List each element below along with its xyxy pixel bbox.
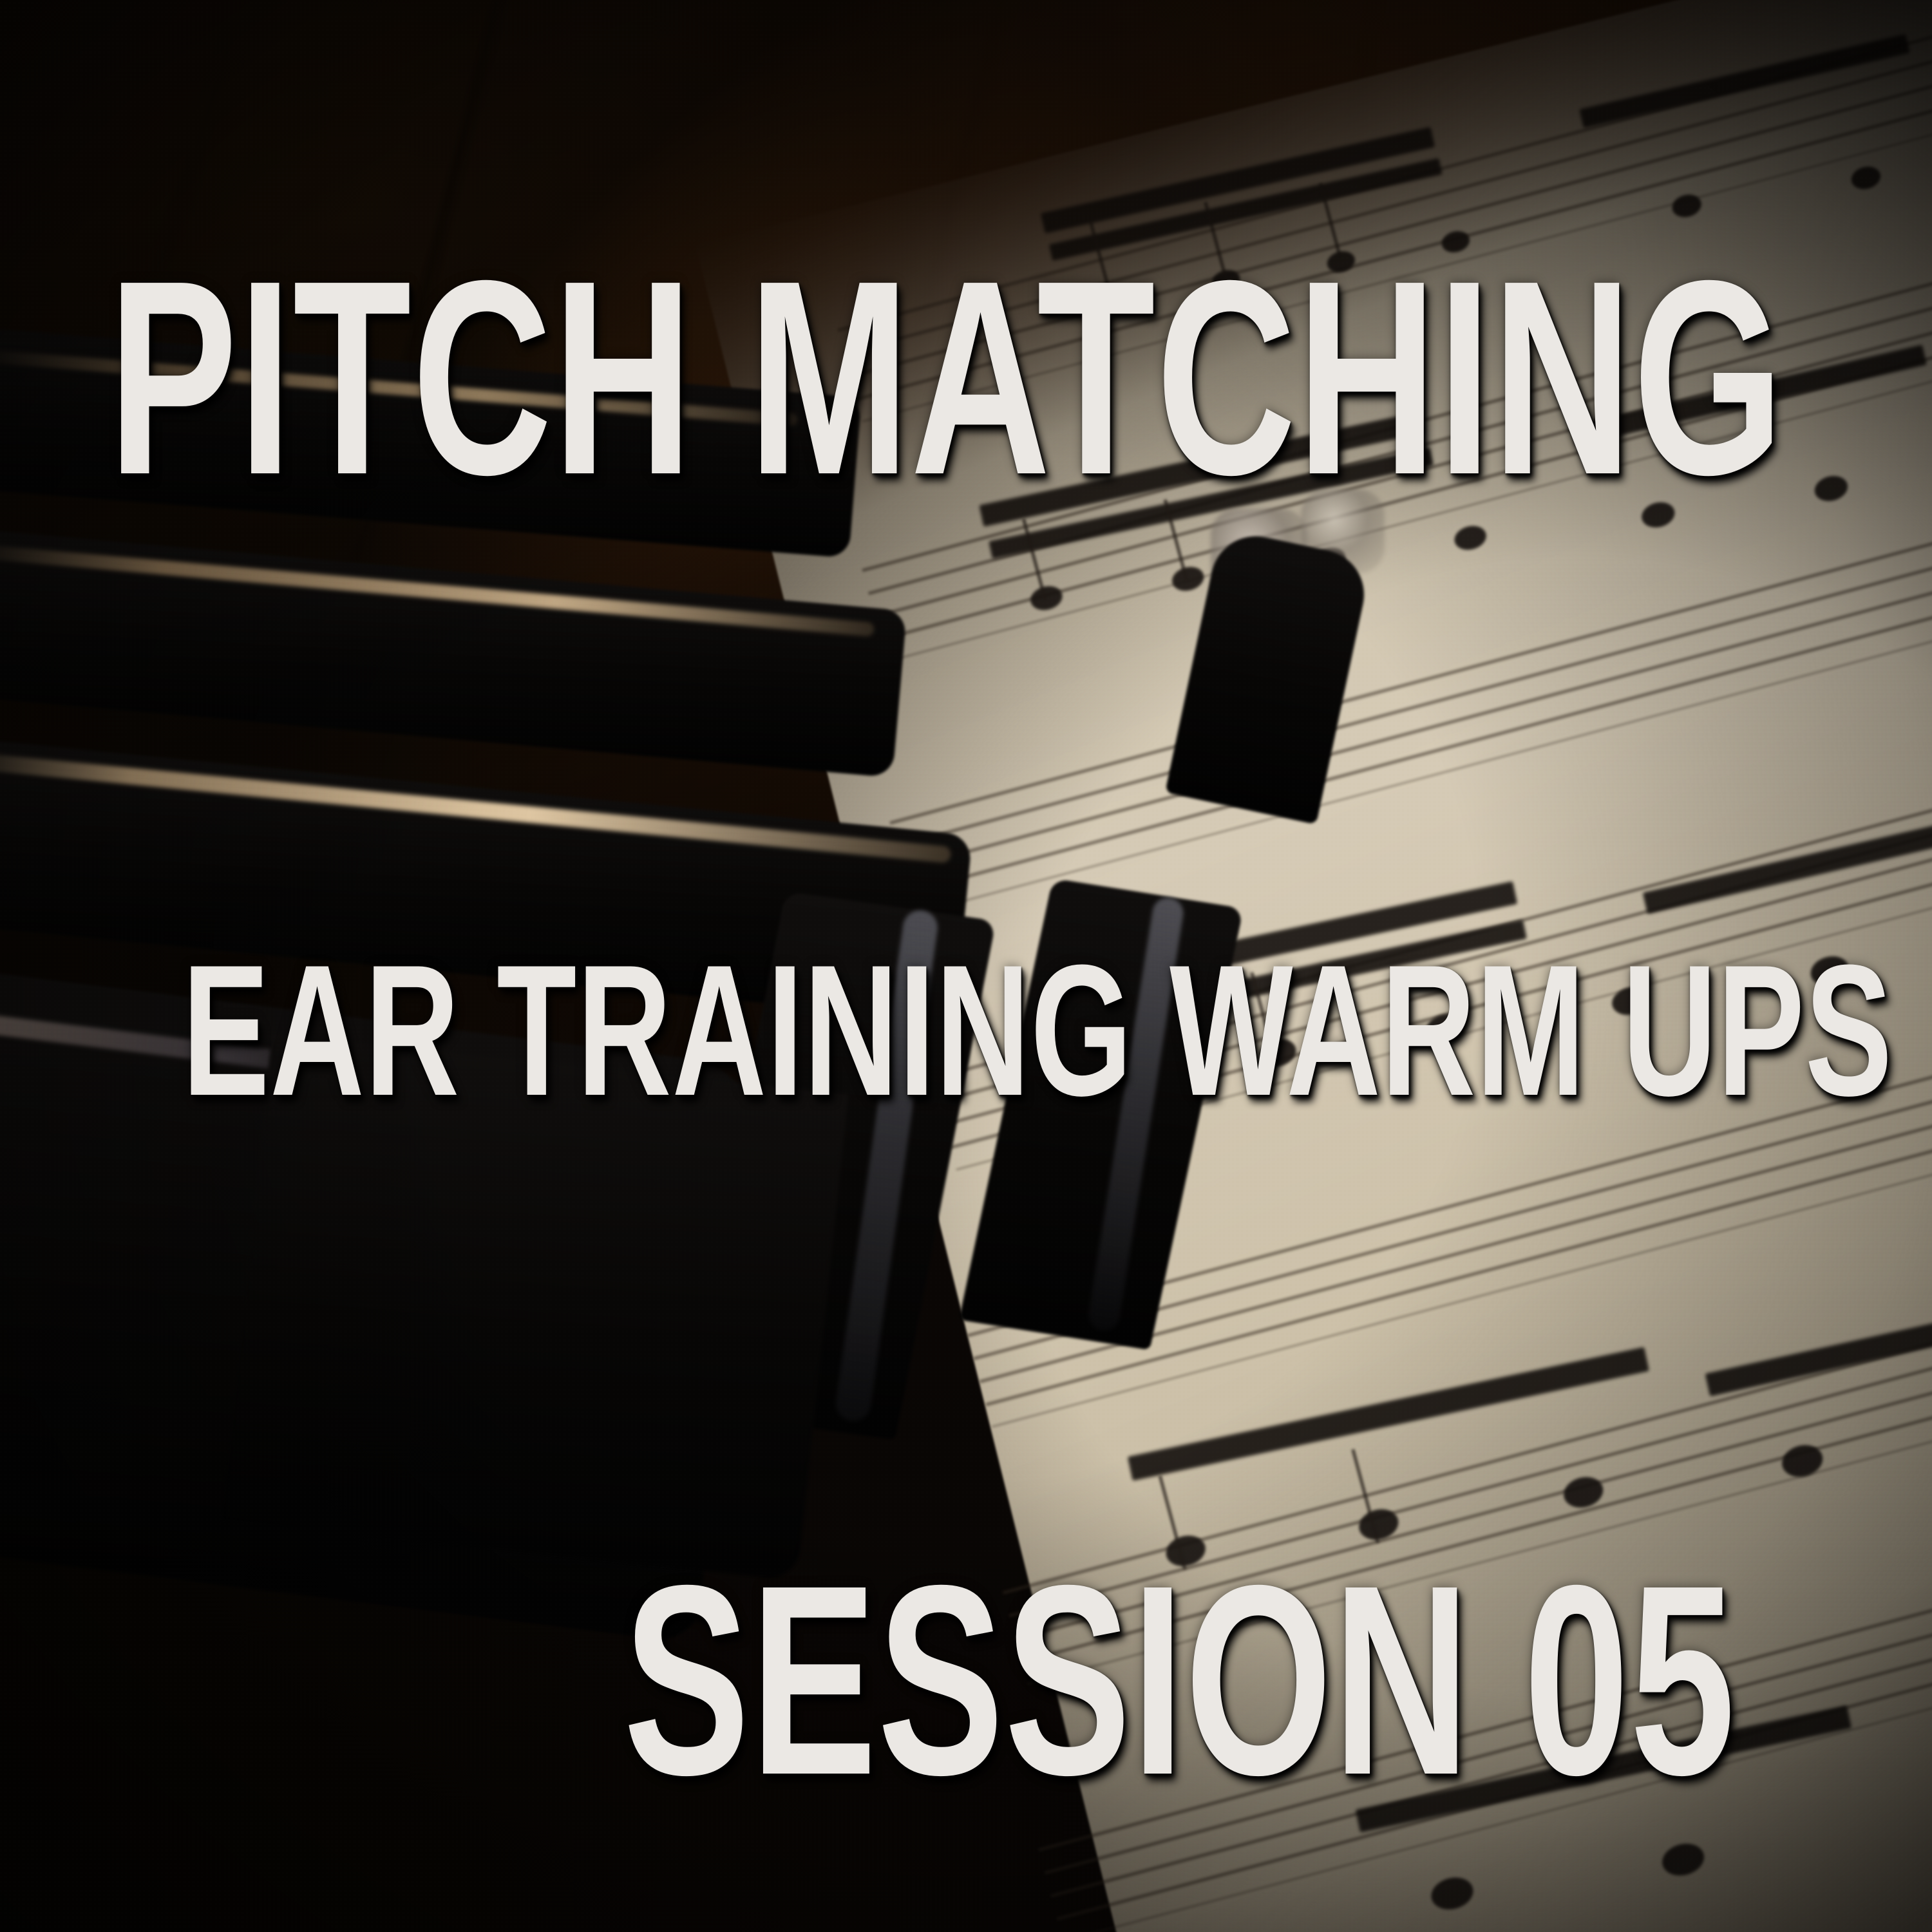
- album-cover-art: PITCH MATCHING EAR TRAINING WARM UPS SES…: [0, 0, 1932, 1932]
- cover-session-label: SESSION 05: [623, 1546, 1736, 1816]
- cover-title: PITCH MATCHING: [108, 240, 1785, 516]
- cover-subtitle: EAR TRAINING WARM UPS: [182, 937, 1893, 1124]
